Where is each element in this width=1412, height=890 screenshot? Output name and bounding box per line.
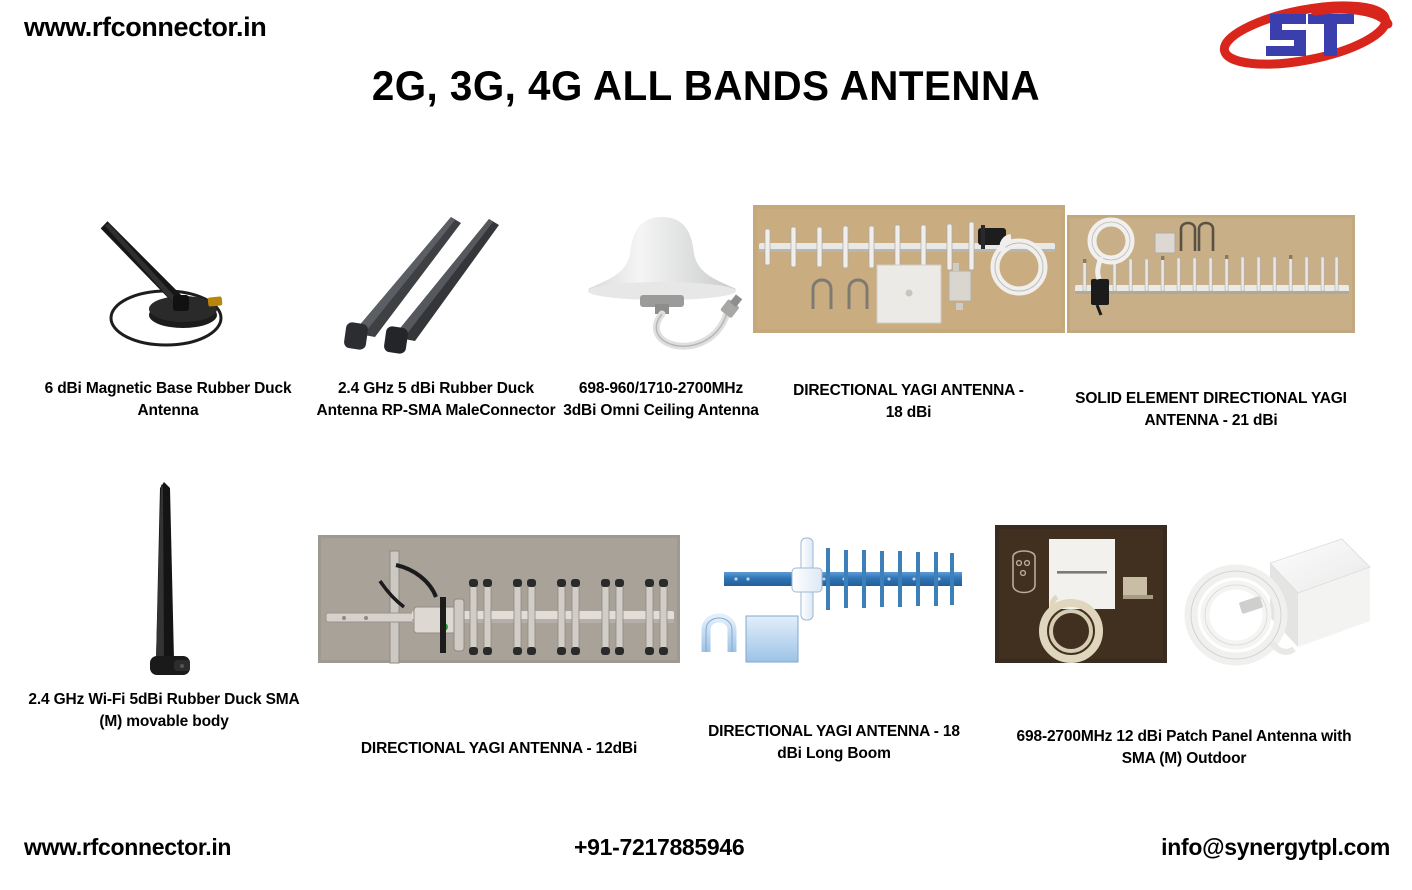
footer-bar: www.rfconnector.in +91-7217885946 info@s…	[0, 828, 1412, 876]
product-cell-yagi-18dbi[interactable]: DIRECTIONAL YAGI ANTENNA - 18 dBi	[756, 205, 1061, 424]
product-cell-yagi-21dbi[interactable]: SOLID ELEMENT DIRECTIONAL YAGI ANTENNA -…	[1061, 205, 1361, 432]
product-cell-patch-panel[interactable]: 698-2700MHz 12 dBi Patch Panel Antenna w…	[984, 470, 1384, 770]
footer-website: www.rfconnector.in	[24, 834, 231, 861]
footer-phone: +91-7217885946	[574, 834, 744, 861]
product-caption: DIRECTIONAL YAGI ANTENNA - 18 dBi Long B…	[699, 721, 969, 765]
footer-email: info@synergytpl.com	[1161, 834, 1390, 861]
directional-yagi-18dbi-long-boom-diagram	[684, 520, 984, 715]
product-cell-wifi-rubber-duck[interactable]: 2.4 GHz Wi-Fi 5dBi Rubber Duck SMA (M) m…	[14, 470, 314, 733]
product-cell-dual-rubber-duck[interactable]: 2.4 GHz 5 dBi Rubber Duck Antenna RP-SMA…	[306, 205, 566, 422]
product-cell-omni-ceiling[interactable]: 698-960/1710-2700MHz 3dBi Omni Ceiling A…	[566, 205, 756, 422]
product-caption: DIRECTIONAL YAGI ANTENNA - 18 dBi	[784, 380, 1034, 424]
product-caption: DIRECTIONAL YAGI ANTENNA - 12dBi	[359, 738, 639, 760]
product-cell-yagi-12dbi[interactable]: DIRECTIONAL YAGI ANTENNA - 12dBi	[314, 470, 684, 760]
patch-panel-antenna-kit-photo	[995, 525, 1374, 720]
product-cell-magnetic-base[interactable]: 6 dBi Magnetic Base Rubber Duck Antenna	[30, 205, 306, 422]
product-caption: 2.4 GHz 5 dBi Rubber Duck Antenna RP-SMA…	[311, 378, 561, 422]
directional-yagi-18dbi-kit-photo	[753, 205, 1065, 370]
brand-logo	[1210, 2, 1400, 68]
header-bar: www.rfconnector.in 2G, 3G, 4G ALL BANDS …	[0, 0, 1412, 130]
product-cell-yagi-18dbi-long-boom[interactable]: DIRECTIONAL YAGI ANTENNA - 18 dBi Long B…	[684, 470, 984, 765]
product-caption: 698-2700MHz 12 dBi Patch Panel Antenna w…	[1009, 726, 1359, 770]
product-caption: 698-960/1710-2700MHz 3dBi Omni Ceiling A…	[561, 378, 761, 422]
header-site-url: www.rfconnector.in	[24, 12, 266, 43]
dual-rubber-duck-antenna-photo	[331, 205, 541, 370]
product-row-2: 2.4 GHz Wi-Fi 5dBi Rubber Duck SMA (M) m…	[0, 470, 1412, 800]
product-caption: 2.4 GHz Wi-Fi 5dBi Rubber Duck SMA (M) m…	[24, 689, 304, 733]
product-row-1: 6 dBi Magnetic Base Rubber Duck Antenna …	[0, 205, 1412, 470]
product-caption: 6 dBi Magnetic Base Rubber Duck Antenna	[38, 378, 298, 422]
wifi-rubber-duck-antenna-photo	[104, 470, 224, 685]
solid-element-yagi-21dbi-photo	[1067, 215, 1355, 380]
omni-ceiling-dome-antenna-photo	[574, 205, 749, 370]
magnetic-base-rubber-duck-antenna-photo	[53, 205, 283, 370]
page-title: 2G, 3G, 4G ALL BANDS ANTENNA	[28, 62, 1384, 110]
product-caption: SOLID ELEMENT DIRECTIONAL YAGI ANTENNA -…	[1066, 388, 1356, 432]
directional-yagi-12dbi-photo	[318, 535, 680, 730]
